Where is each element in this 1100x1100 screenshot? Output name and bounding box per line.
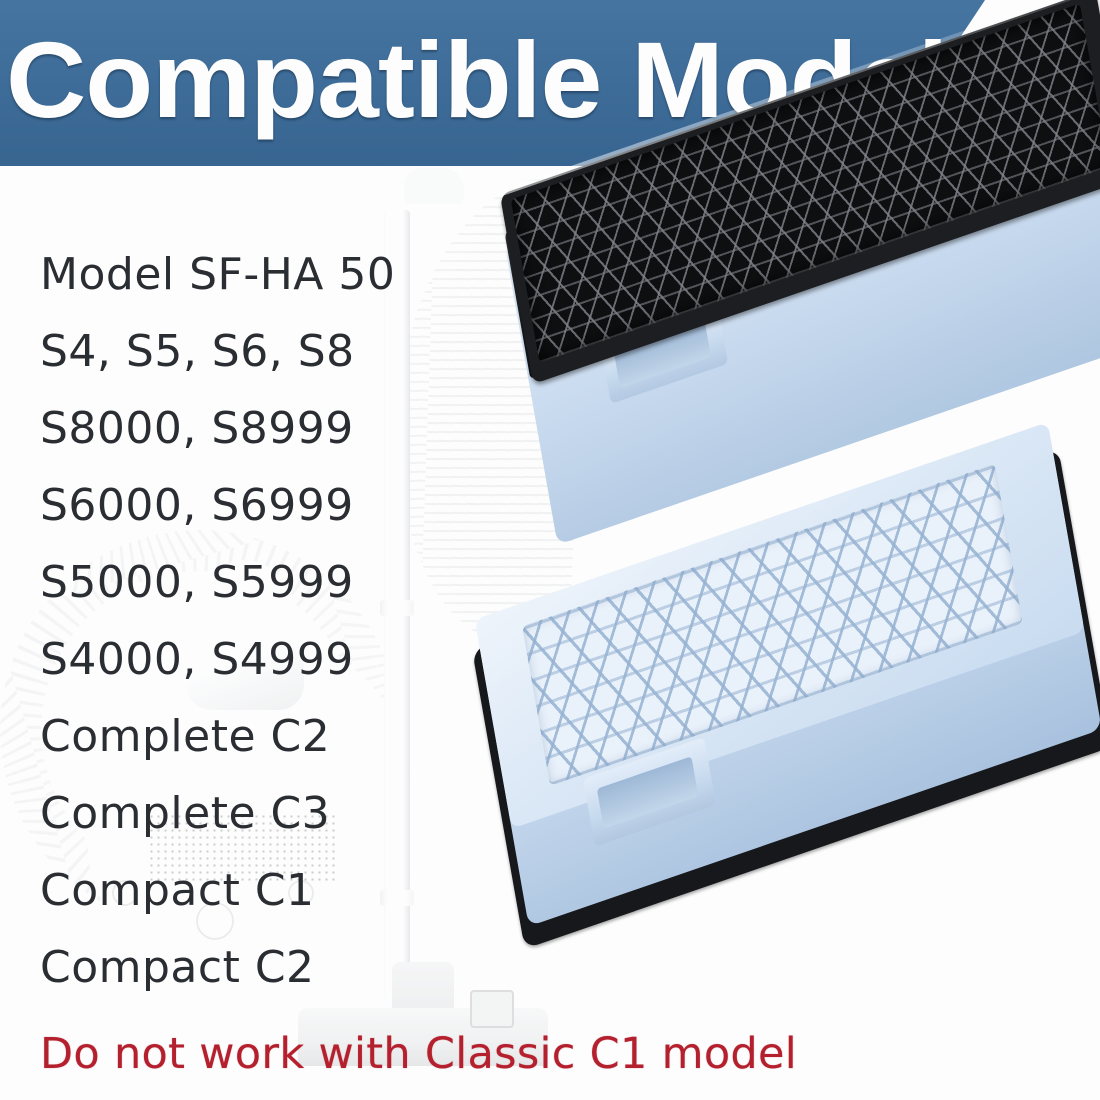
model-list-item: Model SF-HA 50: [40, 236, 470, 313]
model-list-item: Complete C2: [40, 698, 470, 775]
product-infographic: Compatible Model Model SF-HA 50 S4, S5, …: [0, 0, 1100, 1100]
model-list-item: Complete C3: [40, 775, 470, 852]
model-list-item: S6000, S6999: [40, 467, 470, 544]
filter-product-photos: [455, 150, 1100, 1010]
model-compatibility-list: Model SF-HA 50 S4, S5, S6, S8 S8000, S89…: [40, 236, 470, 1006]
model-list-item: S8000, S8999: [40, 390, 470, 467]
model-list-item: Compact C2: [40, 929, 470, 1006]
model-list-item: Compact C1: [40, 852, 470, 929]
model-list-item: S4000, S4999: [40, 621, 470, 698]
model-list-item: S5000, S5999: [40, 544, 470, 621]
model-list-item: S4, S5, S6, S8: [40, 313, 470, 390]
incompatibility-warning: Do not work with Classic C1 model: [40, 1026, 797, 1082]
